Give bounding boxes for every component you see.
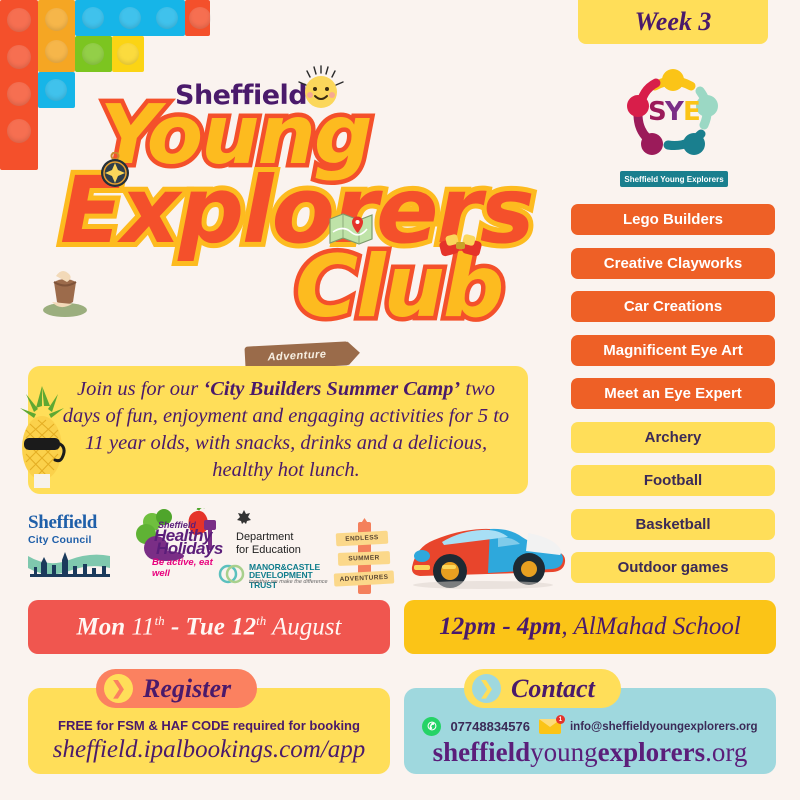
logo-healthy-holidays: Sheffield Healthy Holidays Be active, ea… [132, 508, 228, 569]
chevron-right-icon: ❯ [472, 674, 501, 703]
date-bar: Mon 11th - Tue 12th August [28, 600, 390, 654]
activity-item-5[interactable]: Archery [571, 422, 775, 453]
website-tail: .org [705, 737, 747, 767]
sun-icon [295, 64, 347, 116]
contact-panel[interactable]: ❯ Contact ✆ 07748834576 1 info@sheffield… [404, 688, 776, 774]
description-highlight: ‘City Builders Summer Camp’ [203, 378, 460, 400]
register-panel[interactable]: ❯ Register FREE for FSM & HAF CODE requi… [28, 688, 390, 774]
summer-signpost-decoration: ENDLESS SUMMER ADVENTURES [334, 518, 396, 594]
map-icon [328, 212, 374, 246]
activity-item-7[interactable]: Basketball [571, 509, 775, 540]
svg-text:E: E [683, 97, 701, 127]
time-range: 12pm - 4pm [439, 613, 561, 640]
date-prefix: Mon [77, 613, 132, 640]
date-sup2: th [256, 613, 266, 628]
register-heading-pill[interactable]: ❯ Register [96, 669, 257, 708]
sports-car-illustration [398, 505, 568, 593]
lego-brick-red [0, 0, 38, 170]
hh-line3: Holidays [156, 541, 223, 557]
time-venue: , AlMahad School [561, 613, 740, 640]
binoculars-icon [438, 230, 484, 264]
contact-heading-pill[interactable]: ❯ Contact [464, 669, 621, 708]
date-month: August [266, 613, 341, 640]
scc-line1: Sheffield [28, 512, 110, 534]
date-day2: Tue 12 [186, 613, 257, 640]
date-sup1: th [155, 613, 165, 628]
lego-brick-orange [38, 0, 75, 72]
partner-logos: Sheffield City Council Sheffield Healthy… [28, 508, 338, 590]
register-heading-label: Register [143, 674, 231, 704]
activity-item-4[interactable]: Meet an Eye Expert [571, 378, 775, 409]
chevron-right-icon: ❯ [104, 674, 133, 703]
register-url[interactable]: sheffield.ipalbookings.com/app [28, 736, 390, 764]
lego-brick-red-small [185, 0, 210, 36]
signpost-plank-3: ADVENTURES [334, 570, 395, 586]
contact-heading-label: Contact [511, 674, 595, 704]
sye-logo-icon: S Y E [618, 58, 728, 168]
time-venue-bar: 12pm - 4pm, AlMahad School [404, 600, 776, 654]
royal-crest-icon [236, 510, 252, 524]
poster-root: Sheffield Young Explorers Club [0, 0, 800, 800]
lego-brick-cyan-wide [75, 0, 185, 36]
description-text: Join us for our ‘City Builders Summer Ca… [62, 376, 510, 484]
website-bold1: sheffield [433, 737, 531, 767]
scc-line2: City Council [28, 534, 110, 546]
activity-list: Lego Builders Creative Clayworks Car Cre… [571, 204, 775, 596]
activity-item-2[interactable]: Car Creations [571, 291, 775, 322]
pineapple-mascot-icon [16, 382, 68, 490]
register-note: FREE for FSM & HAF CODE required for boo… [28, 718, 390, 733]
pottery-clay-icon [34, 258, 96, 320]
activity-item-8[interactable]: Outdoor games [571, 552, 775, 583]
svg-text:S: S [648, 97, 667, 127]
date-sep: - [165, 613, 186, 640]
sye-logo-caption: Sheffield Young Explorers [620, 171, 728, 187]
week-badge: Week 3 [578, 0, 768, 44]
compass-icon [98, 152, 132, 188]
envelope-icon: 1 [539, 719, 561, 734]
poster-title: Sheffield Young Explorers Club [60, 72, 560, 312]
signpost-plank-2: SUMMER [338, 551, 390, 566]
contact-website[interactable]: sheffieldyoungexplorers.org [404, 737, 776, 768]
activity-item-3[interactable]: Magnificent Eye Art [571, 335, 775, 366]
activity-item-6[interactable]: Football [571, 465, 775, 496]
envelope-badge: 1 [556, 715, 565, 724]
logo-department-for-education: Department for Education [236, 510, 301, 556]
lego-brick-yellow [112, 36, 144, 72]
dfe-line1: Department [236, 531, 301, 544]
lego-brick-green [75, 36, 112, 72]
activity-item-0[interactable]: Lego Builders [571, 204, 775, 235]
manor-castle-rings-icon [218, 562, 246, 586]
contact-phone[interactable]: 07748834576 [450, 719, 530, 734]
mc-line3: together we make the difference [249, 579, 328, 585]
whatsapp-icon: ✆ [422, 717, 441, 736]
contact-email[interactable]: info@sheffieldyoungexplorers.org [570, 721, 758, 733]
contact-details-row: ✆ 07748834576 1 info@sheffieldyoungexplo… [404, 717, 776, 736]
dfe-line2: for Education [236, 544, 301, 557]
date-day1: 11 [131, 613, 154, 640]
activity-item-1[interactable]: Creative Clayworks [571, 248, 775, 279]
signpost-plank-1: ENDLESS [336, 531, 389, 547]
hh-line4: Be active, eat well [152, 557, 228, 579]
svg-text:Y: Y [664, 97, 685, 127]
scc-skyline-icon [28, 548, 110, 582]
description-before: Join us for our [77, 378, 203, 400]
description-box: Join us for our ‘City Builders Summer Ca… [28, 366, 528, 494]
website-mid: young [530, 737, 598, 767]
website-bold2: explorers [598, 737, 705, 767]
logo-sheffield-city-council: Sheffield City Council [28, 512, 110, 587]
